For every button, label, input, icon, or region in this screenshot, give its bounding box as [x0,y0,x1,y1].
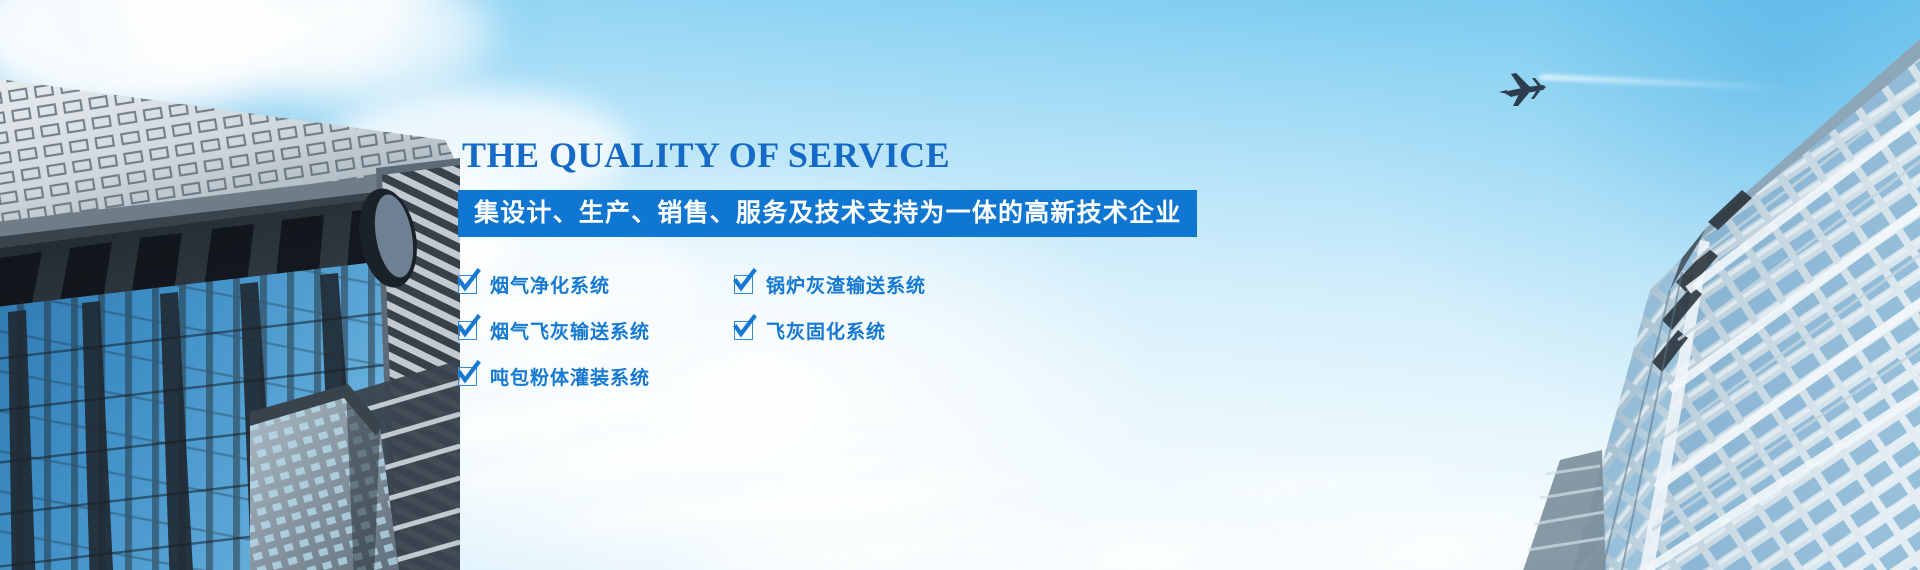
checkbox-checked-icon[interactable] [458,321,477,340]
cloud [700,515,1220,570]
cloud [429,432,760,502]
cloud [250,0,490,100]
sky-gradient-right [1220,0,1920,570]
checkbox-checked-icon[interactable] [458,367,477,386]
banner-content: THE QUALITY OF SERVICE 集设计、生产、销售、服务及技术支持… [458,136,1218,409]
checkbox-checked-icon[interactable] [458,275,477,294]
feature-row: 烟气飞灰输送系统 飞灰固化系统 [458,317,1158,344]
cloud [1340,512,1640,570]
feature-item-flyash-solidification[interactable]: 飞灰固化系统 [734,317,1034,344]
feature-item-label: 烟气飞灰输送系统 [490,317,650,344]
page-title: THE QUALITY OF SERVICE [462,136,1218,176]
airplane-icon [1497,72,1549,108]
feature-item-label: 锅炉灰渣输送系统 [766,271,926,298]
skyscraper-icon [0,0,460,570]
feature-item-bulk-bag-filling[interactable]: 吨包粉体灌装系统 [458,363,734,390]
tagline-bar: 集设计、生产、销售、服务及技术支持为一体的高新技术企业 [458,190,1197,238]
skyscraper-icon [250,378,430,570]
feature-item-smoke-purification[interactable]: 烟气净化系统 [458,271,734,298]
cloud [559,475,980,540]
feature-list: 烟气净化系统 锅炉灰渣输送系统 烟气飞灰输送系统 [458,271,1158,390]
checkbox-checked-icon[interactable] [734,275,753,294]
cloud [120,0,420,90]
feature-item-boiler-ash-conveying[interactable]: 锅炉灰渣输送系统 [734,271,1034,298]
cloud [1080,520,1500,570]
feature-row: 烟气净化系统 锅炉灰渣输送系统 [458,271,1158,298]
contrail-icon [1540,75,1790,91]
feature-item-label: 吨包粉体灌装系统 [490,363,650,390]
hero-banner: THE QUALITY OF SERVICE 集设计、生产、销售、服务及技术支持… [0,0,1920,570]
feature-row: 吨包粉体灌装系统 [458,363,1158,390]
skyscraper-icon [1370,0,1920,570]
feature-item-label: 烟气净化系统 [490,271,610,298]
feature-item-flyash-conveying[interactable]: 烟气飞灰输送系统 [458,317,734,344]
cloud [1189,463,1450,503]
checkbox-checked-icon[interactable] [734,321,753,340]
cloud [0,0,290,120]
feature-item-label: 飞灰固化系统 [766,317,886,344]
